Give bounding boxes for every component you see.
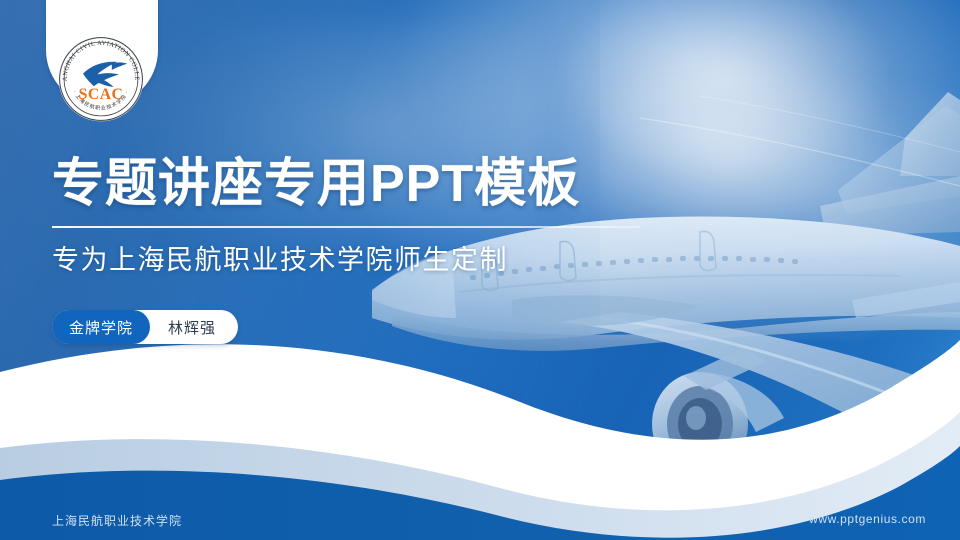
badge-gold-college[interactable]: 金牌学院	[52, 310, 150, 344]
title-block: 专题讲座专用PPT模板 专为上海民航职业技术学院师生定制	[52, 156, 672, 277]
presenter-tag[interactable]: 金牌学院 林辉强	[52, 310, 238, 344]
presenter-name: 林辉强	[150, 310, 238, 344]
scac-logo-icon: SHANGHAI CIVIL AVIATION COLLEGE · 上海民航职业…	[56, 34, 146, 124]
presentation-slide: SHANGHAI CIVIL AVIATION COLLEGE · 上海民航职业…	[0, 0, 960, 540]
bottom-wave-decoration	[0, 320, 960, 540]
page-subtitle: 专为上海民航职业技术学院师生定制	[52, 238, 672, 277]
title-divider	[52, 226, 640, 228]
svg-text:SCAC: SCAC	[79, 86, 124, 103]
page-title: 专题讲座专用PPT模板	[52, 156, 672, 212]
footer-institution: 上海民航职业技术学院	[52, 512, 182, 529]
footer-website[interactable]: www.pptgenius.com	[809, 512, 926, 526]
